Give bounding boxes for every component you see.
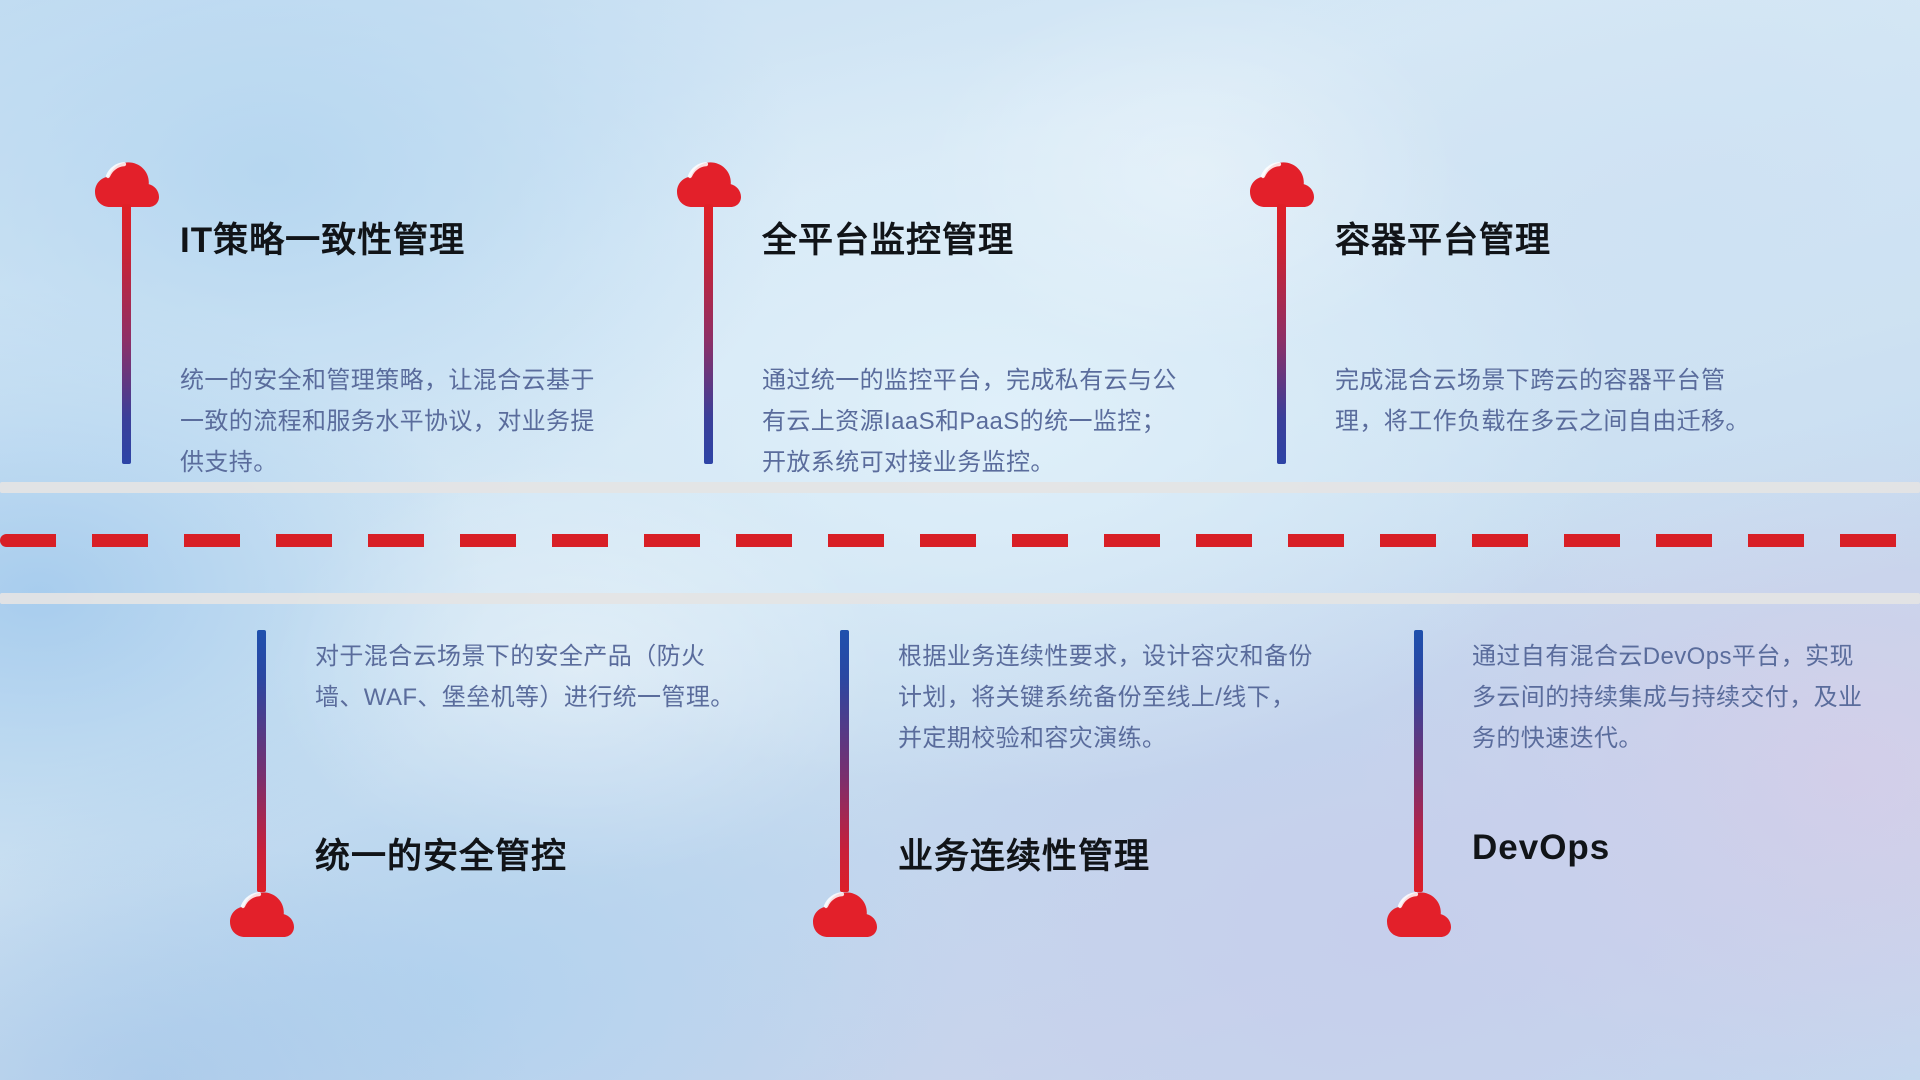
- item-stem-bar: [1277, 204, 1286, 464]
- item-description: 通过自有混合云DevOps平台，实现多云间的持续集成与持续交付，及业务的快速迭代…: [1472, 636, 1872, 759]
- item-description: 完成混合云场景下跨云的容器平台管理，将工作负载在多云之间自由迁移。: [1335, 360, 1765, 442]
- divider-band-top: [0, 482, 1920, 493]
- item-title: 容器平台管理: [1335, 212, 1551, 263]
- item-title: IT策略一致性管理: [180, 212, 465, 263]
- item-title: 业务连续性管理: [898, 828, 1150, 879]
- item-title: DevOps: [1472, 828, 1610, 868]
- item-description: 通过统一的监控平台，完成私有云与公有云上资源IaaS和PaaS的统一监控；开放系…: [762, 360, 1182, 483]
- item-description: 对于混合云场景下的安全产品（防火墙、WAF、堡垒机等）进行统一管理。: [315, 636, 735, 718]
- item-description: 根据业务连续性要求，设计容灾和备份计划，将关键系统备份至线上/线下，并定期校验和…: [898, 636, 1318, 759]
- item-stem-bar: [704, 204, 713, 464]
- cloud-pin-icon: [229, 890, 295, 940]
- item-title: 全平台监控管理: [762, 212, 1014, 263]
- dashed-separator-line: [0, 534, 1920, 547]
- item-title: 统一的安全管控: [315, 828, 567, 879]
- item-description: 统一的安全和管理策略，让混合云基于一致的流程和服务水平协议，对业务提供支持。: [180, 360, 600, 483]
- cloud-pin-icon: [1249, 160, 1315, 210]
- cloud-pin-icon: [676, 160, 742, 210]
- item-stem-bar: [1414, 630, 1423, 892]
- section-divider: [0, 482, 1920, 604]
- item-stem-bar: [122, 204, 131, 464]
- cloud-pin-icon: [1386, 890, 1452, 940]
- item-stem-bar: [257, 630, 266, 892]
- infographic-canvas: IT策略一致性管理 统一的安全和管理策略，让混合云基于一致的流程和服务水平协议，…: [0, 0, 1920, 1080]
- item-stem-bar: [840, 630, 849, 892]
- cloud-pin-icon: [812, 890, 878, 940]
- cloud-pin-icon: [94, 160, 160, 210]
- divider-band-bottom: [0, 593, 1920, 604]
